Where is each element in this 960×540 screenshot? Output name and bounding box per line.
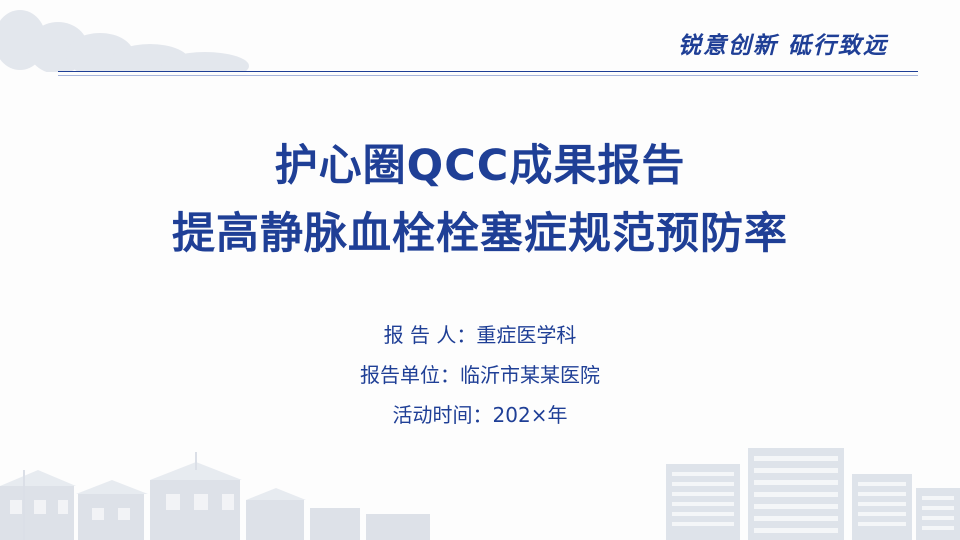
page-title: 护心圈QCC成果报告 [0,140,960,194]
meta-row-presenter: 报 告 人：重症医学科 [0,325,960,365]
background-photo-hospital [660,430,960,540]
header-divider-line [58,71,918,72]
meta-row-organization: 报告单位：临沂市某某医院 [0,365,960,405]
background-photo-topleft [0,0,250,72]
meta-block: 报 告 人：重症医学科 报告单位：临沂市某某医院 活动时间：202×年 [0,325,960,445]
presentation-title-slide: 锐意创新 砥行致远 护心圈QCC成果报告 提高静脉血栓栓塞症规范预防率 报 告 … [0,0,960,540]
page-subtitle: 提高静脉血栓栓塞症规范预防率 [0,208,960,262]
meta-label-organization: 报告单位： [360,365,460,385]
meta-row-date: 活动时间：202×年 [0,405,960,445]
background-photo-village [0,430,430,540]
meta-value-presenter: 重症医学科 [476,325,576,345]
title-block: 护心圈QCC成果报告 提高静脉血栓栓塞症规范预防率 [0,140,960,262]
meta-label-presenter: 报 告 人： [384,325,477,345]
meta-value-organization: 临沂市某某医院 [460,365,600,385]
header-divider-line-secondary [58,75,918,76]
header-slogan: 锐意创新 砥行致远 [678,26,888,60]
meta-value-date: 202×年 [493,405,568,425]
meta-label-date: 活动时间： [393,405,493,425]
